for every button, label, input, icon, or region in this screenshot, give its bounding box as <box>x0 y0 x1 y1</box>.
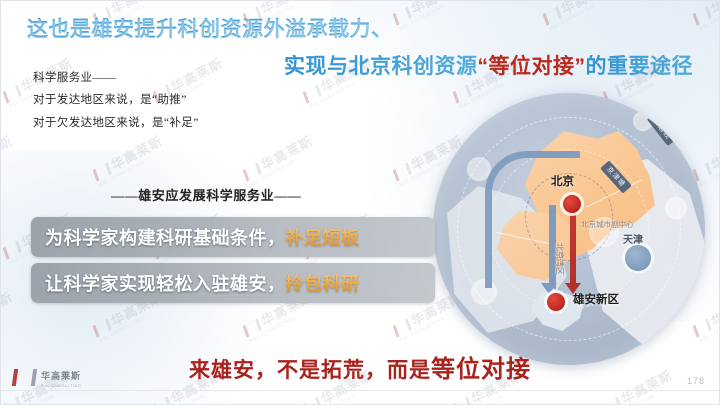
section-heading: ——雄安应发展科学服务业—— <box>111 185 301 204</box>
highlight-banner-accent: 拎包科研 <box>286 270 360 296</box>
bottom-slogan-part1: 来雄安，不是拓荒，而是 <box>189 358 431 382</box>
logo-text-block: 华高莱斯 R&L CONSULTING <box>41 367 81 388</box>
map-tianjin-node <box>625 245 651 271</box>
map-tag-jingtang: 京唐线 <box>647 112 677 146</box>
logo-name: 华高莱斯 <box>41 371 81 381</box>
watermark-tile: 华高莱斯R&L CONSULTING <box>1 1 18 32</box>
highlight-banner-text: 为科学家构建科研基础条件， <box>45 224 286 250</box>
map-marker-xiongan <box>547 293 565 311</box>
highlight-banner: 让科学家实现轻松入驻雄安， 拎包科研 <box>31 263 435 303</box>
watermark-tile: 华高莱斯R&L CONSULTING <box>1 131 18 189</box>
map-marker-beijing <box>563 195 581 213</box>
highlight-banner-list: 为科学家构建科研基础条件， 补足短板 让科学家实现轻松入驻雄安， 拎包科研 <box>31 217 435 309</box>
slide-title-line1: 这也是雄安提升科创资源外溢承载力、 <box>27 13 699 43</box>
highlight-banner: 为科学家构建科研基础条件， 补足短板 <box>31 217 435 257</box>
map-label-xiongan: 雄安新区 <box>573 291 619 307</box>
footer-divider <box>1 390 719 391</box>
company-logo: 华高莱斯 R&L CONSULTING <box>13 367 81 388</box>
map-node-circle <box>665 197 687 219</box>
slide-title-line2-suffix: 的重要途径 <box>586 55 694 78</box>
region-map: 京津塘 京唐线 北京 雄安新区 北京城市副中心 天津 北京湾区 <box>433 93 705 365</box>
highlight-banner-text: 让科学家实现轻松入驻雄安， <box>45 270 286 296</box>
map-label-corridor: 北京湾区 <box>554 243 565 275</box>
body-text-line: 对于欠发达地区来说，是“补足” <box>33 112 199 134</box>
bottom-slogan: 来雄安，不是拓荒，而是等位对接 <box>1 349 719 384</box>
highlight-banner-accent: 补足短板 <box>286 224 360 250</box>
map-flow-arrow-blue <box>485 151 580 288</box>
slide-title-line2-highlight: “等位对接” <box>478 55 586 78</box>
watermark-tile: 华高莱斯R&L CONSULTING <box>1 287 18 345</box>
map-label-tianjin: 天津 <box>623 231 643 246</box>
map-disc: 京津塘 京唐线 北京 雄安新区 北京城市副中心 天津 北京湾区 <box>433 93 705 365</box>
watermark-tile: 华高莱斯R&L CONSULTING <box>240 131 319 189</box>
page-number: 178 <box>687 376 705 386</box>
map-label-subcenter: 北京城市副中心 <box>581 219 634 230</box>
logo-mark-icon <box>12 369 37 386</box>
watermark-tile: 华高莱斯R&L CONSULTING <box>90 131 169 189</box>
bottom-slogan-part2: 等位对接 <box>431 357 531 383</box>
map-label-beijing: 北京 <box>551 173 574 189</box>
map-flow-arrow-red <box>570 211 576 287</box>
slide-title-line2-prefix: 实现与北京科创资源 <box>284 55 478 78</box>
body-text-block: 科学服务业—— 对于发达地区来说，是“助推” 对于欠发达地区来说，是“补足” <box>33 67 199 134</box>
logo-subtitle: R&L CONSULTING <box>41 384 81 388</box>
presentation-slide: 华高莱斯R&L CONSULTING华高莱斯R&L CONSULTING华高莱斯… <box>0 0 720 405</box>
body-text-line: 对于发达地区来说，是“助推” <box>33 89 199 111</box>
body-text-line: 科学服务业—— <box>33 67 199 89</box>
